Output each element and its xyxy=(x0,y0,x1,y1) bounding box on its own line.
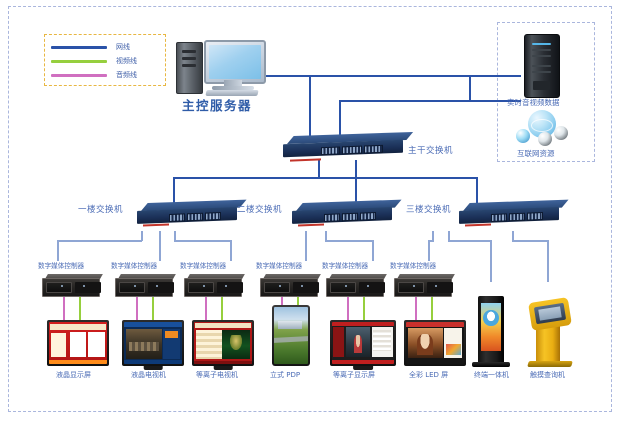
media-controller-1-icon[interactable] xyxy=(42,274,100,296)
legend-label-network-cable: 网线 xyxy=(116,44,130,51)
legend-item-network-cable: 网线 xyxy=(51,40,159,54)
switch-ports xyxy=(491,212,543,220)
wire-f3-k2-drop xyxy=(547,240,549,282)
display-bezel xyxy=(330,320,396,366)
floor1-switch-icon[interactable] xyxy=(137,203,237,225)
touch-query-kiosk-icon[interactable] xyxy=(528,296,572,366)
display-bezel xyxy=(47,320,109,366)
display-3-label: 等离子电视机 xyxy=(196,372,238,379)
controller-front-face xyxy=(260,278,318,297)
screen-photo-area xyxy=(222,330,250,359)
screen-header-band xyxy=(195,323,251,328)
switch-port-group xyxy=(509,213,525,222)
main-server-computer[interactable] xyxy=(176,40,264,96)
legend: 网线 视频线 音频线 xyxy=(44,34,166,86)
switch-red-stripe xyxy=(290,159,321,162)
switch-port-group xyxy=(364,145,383,154)
controller-4-label: 数字媒体控制器 xyxy=(256,263,302,270)
switch-red-stripe xyxy=(298,224,324,227)
display-bezel xyxy=(404,320,466,366)
led-screen-icon[interactable] xyxy=(404,320,466,366)
switch-port-group xyxy=(169,213,185,222)
wire-av-to-tower xyxy=(469,75,521,77)
pc-monitor-icon xyxy=(204,40,266,84)
controller-1-label: 数字媒体控制器 xyxy=(38,263,84,270)
wire-f1-c3-h xyxy=(174,240,231,242)
network-topology-diagram: 网线 视频线 音频线 xyxy=(0,0,622,425)
floor3-switch-label: 三楼交换机 xyxy=(406,206,451,215)
screen-footer-band xyxy=(49,360,107,364)
display-content xyxy=(406,322,464,364)
pc-keyboard-icon xyxy=(205,90,258,96)
globe-ball-dark-2 xyxy=(554,126,568,140)
controller-front-face xyxy=(326,278,384,297)
switch-port-group xyxy=(205,212,221,221)
av-source-server-icon[interactable] xyxy=(524,34,560,98)
switch-port-group xyxy=(360,212,376,221)
screen-footer-band xyxy=(124,360,182,364)
screen-panel xyxy=(88,332,104,357)
wire-f3-c6-drop xyxy=(428,240,430,261)
wire-f3-k1-drop xyxy=(490,240,492,282)
core-switch-icon[interactable] xyxy=(283,136,403,160)
wire-f2-c4-drop xyxy=(305,231,307,261)
wire-f3-k1-h xyxy=(448,240,491,242)
display-4-label: 立式 PDP xyxy=(270,372,300,379)
wire-server-riser xyxy=(309,75,311,142)
controller-3-label: 数字媒体控制器 xyxy=(180,263,226,270)
controller-front-face xyxy=(42,278,100,297)
display-7-label: 终端一体机 xyxy=(474,372,509,379)
controller-front-face xyxy=(115,278,173,297)
screen-art-schedule xyxy=(194,322,252,364)
legend-label-audio-cable: 音频线 xyxy=(116,72,137,79)
switch-red-stripe xyxy=(465,224,491,227)
screen-side-panel xyxy=(163,329,180,359)
vertical-pdp-icon[interactable] xyxy=(272,305,310,366)
main-server-label: 主控服务器 xyxy=(182,100,252,113)
display-8-label: 触摸查询机 xyxy=(530,372,565,379)
screen-left-panel xyxy=(333,327,344,356)
floor2-switch-label: 二楼交换机 xyxy=(237,206,282,215)
screen-road xyxy=(274,336,308,343)
screen-header-band xyxy=(124,322,182,327)
switch-port-group xyxy=(324,213,340,222)
floor2-switch-icon[interactable] xyxy=(292,203,392,225)
display-bezel xyxy=(122,320,184,366)
screen-panel xyxy=(51,333,66,357)
screen-header-band xyxy=(406,322,464,327)
kiosk-terminal-icon[interactable] xyxy=(472,296,510,366)
screen-photo-area xyxy=(408,328,443,357)
display-content xyxy=(49,322,107,364)
globe-ball-blue xyxy=(516,129,530,143)
network-cable-swatch-icon xyxy=(51,46,107,49)
display-content xyxy=(274,307,308,364)
lcd-panel-icon[interactable] xyxy=(47,320,109,366)
legend-label-video-cable: 视频线 xyxy=(116,58,137,65)
switch-ports xyxy=(169,212,221,220)
switch-ports xyxy=(321,145,383,153)
controller-5-label: 数字媒体控制器 xyxy=(322,263,368,270)
screen-header-band xyxy=(50,324,106,330)
switch-port-group xyxy=(343,146,362,155)
screen-table-area xyxy=(196,330,222,359)
display-stand xyxy=(144,366,163,370)
media-controller-4-icon[interactable] xyxy=(260,274,318,296)
screen-video-area xyxy=(126,329,162,359)
legend-item-audio-cable: 音频线 xyxy=(51,68,159,82)
media-controller-3-icon[interactable] xyxy=(184,274,242,296)
display-1-label: 液晶显示屏 xyxy=(56,372,91,379)
wire-core-bus-stub xyxy=(318,160,320,179)
wire-core-bus xyxy=(173,177,478,179)
legend-item-video-cable: 视频线 xyxy=(51,54,159,68)
wire-f3-k2-h xyxy=(512,240,548,242)
kiosk-screen xyxy=(481,303,501,351)
screen-side-panel xyxy=(444,328,462,357)
display-stand xyxy=(353,366,373,370)
wire-f2-c5-drop xyxy=(372,240,374,261)
floor3-switch-icon[interactable] xyxy=(459,203,559,225)
av-source-label: 实时音视频数据 xyxy=(507,99,560,107)
audio-cable-swatch-icon xyxy=(51,74,107,77)
display-stand xyxy=(214,366,233,370)
screen-footer-band xyxy=(194,361,252,364)
switch-port-group xyxy=(321,146,340,155)
wire-internet-link xyxy=(339,100,521,102)
controller-2-label: 数字媒体控制器 xyxy=(111,263,157,270)
controller-front-face xyxy=(184,278,242,297)
switch-port-group xyxy=(342,213,358,222)
display-6-label: 全彩 LED 屏 xyxy=(409,372,448,379)
screen-art-conference xyxy=(124,322,182,364)
wire-f1-c1-drop xyxy=(57,240,59,261)
video-cable-swatch-icon xyxy=(51,60,107,63)
floor1-switch-label: 一楼交换机 xyxy=(78,206,123,215)
screen-data-table xyxy=(372,327,393,356)
media-controller-6-icon[interactable] xyxy=(394,274,452,296)
screen-building xyxy=(278,321,302,329)
wire-f1-c3-drop xyxy=(230,240,232,261)
switch-red-stripe xyxy=(143,224,169,227)
controller-6-label: 数字媒体控制器 xyxy=(390,263,436,270)
display-5-label: 等离子显示屏 xyxy=(333,372,375,379)
lcd-tv-icon[interactable] xyxy=(122,320,184,366)
screen-art-promo xyxy=(49,322,107,364)
switch-ports xyxy=(324,212,376,220)
screen-panel xyxy=(70,332,86,357)
plasma-tv-icon[interactable] xyxy=(192,320,254,366)
wire-server-to-av xyxy=(264,75,471,77)
internet-label: 互联网资源 xyxy=(517,150,555,158)
screen-art-landscape xyxy=(274,307,308,364)
media-controller-5-icon[interactable] xyxy=(326,274,384,296)
display-content xyxy=(194,322,252,364)
display-content xyxy=(332,322,394,364)
kiosk-base xyxy=(527,361,573,367)
pc-screen xyxy=(209,45,261,79)
switch-port-group xyxy=(527,212,543,221)
pc-tower-icon xyxy=(176,42,203,94)
internet-globe-icon[interactable] xyxy=(514,110,570,146)
screen-art-news xyxy=(332,322,394,364)
globe-ball-dark-1 xyxy=(538,132,552,146)
controller-front-face xyxy=(394,278,452,297)
wire-f2-c5-h xyxy=(325,240,373,242)
kiosk-base xyxy=(472,362,510,367)
screen-anchor-area xyxy=(346,327,371,356)
display-bezel xyxy=(192,320,254,366)
media-controller-2-icon[interactable] xyxy=(115,274,173,296)
switch-port-group xyxy=(187,213,203,222)
screen-header-band xyxy=(332,322,394,326)
kiosk-body xyxy=(478,296,504,364)
core-switch-label: 主干交换机 xyxy=(408,147,453,156)
wire-f1-c2-drop xyxy=(159,231,161,261)
screen-footer-band xyxy=(332,360,394,364)
display-content xyxy=(124,322,182,364)
switch-port-group xyxy=(491,213,507,222)
plasma-panel-icon[interactable] xyxy=(330,320,396,366)
wire-av-riser xyxy=(469,75,471,102)
wire-f1-c1-h xyxy=(57,240,142,242)
screen-art-ad xyxy=(406,322,464,364)
display-2-label: 液晶电视机 xyxy=(131,372,166,379)
